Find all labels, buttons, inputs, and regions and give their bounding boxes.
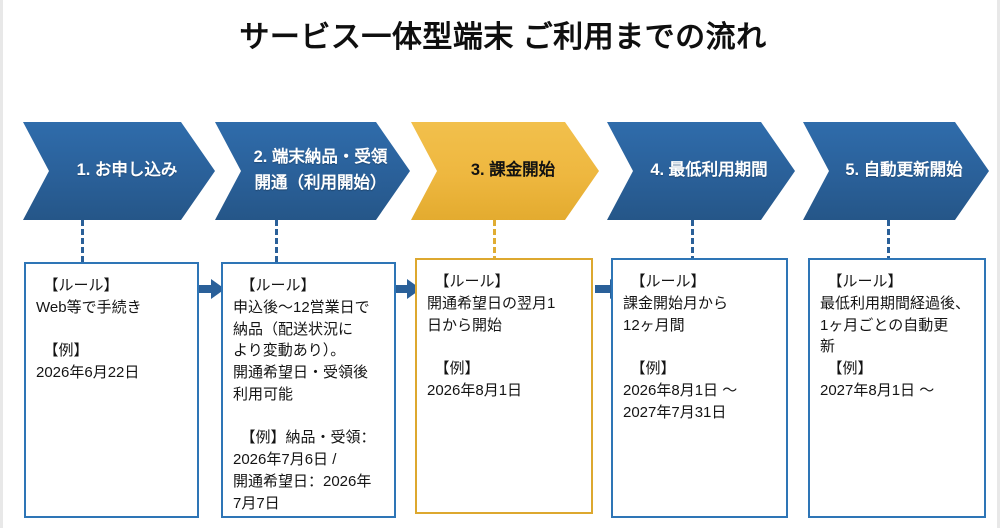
slide-canvas: サービス一体型端末 ご利用までの流れ 1. お申し込み 2. 端末納品・受領 開… <box>0 0 1000 528</box>
connector-2 <box>275 220 278 262</box>
detail-box-1[interactable]: 【ルール】 Web等で手続き 【例】 2026年6月22日 <box>24 262 199 518</box>
detail-box-5-text: 【ルール】 最低利用期間経過後、 1ヶ月ごとの自動更 新 【例】 2027年8月… <box>820 271 976 402</box>
process-flow-row: 1. お申し込み 2. 端末納品・受領 開通（利用開始） 3. 課金開始 <box>3 122 1000 220</box>
detail-box-3-text: 【ルール】 開通希望日の翌月1 日から開始 【例】 2026年8月1日 <box>427 271 583 402</box>
process-step-5-label: 5. 自動更新開始 <box>845 158 962 184</box>
process-step-1-label: 1. お申し込み <box>77 158 178 184</box>
detail-box-1-text: 【ルール】 Web等で手続き 【例】 2026年6月22日 <box>36 275 189 384</box>
page-title: サービス一体型端末 ご利用までの流れ <box>3 12 1000 56</box>
process-step-4[interactable]: 4. 最低利用期間 <box>607 122 795 220</box>
connector-4 <box>691 220 694 262</box>
process-step-2[interactable]: 2. 端末納品・受領 開通（利用開始） <box>215 122 410 220</box>
process-step-2-label: 2. 端末納品・受領 開通（利用開始） <box>254 145 388 196</box>
detail-box-2-text: 【ルール】 申込後〜12営業日で 納品（配送状況に より変動あり）。 開通希望日… <box>233 275 386 514</box>
connector-3 <box>493 220 496 262</box>
detail-box-4[interactable]: 【ルール】 課金開始月から 12ヶ月間 【例】 2026年8月1日 〜 2027… <box>611 258 788 518</box>
process-step-5[interactable]: 5. 自動更新開始 <box>803 122 989 220</box>
detail-box-2[interactable]: 【ルール】 申込後〜12営業日で 納品（配送状況に より変動あり）。 開通希望日… <box>221 262 396 518</box>
process-step-3[interactable]: 3. 課金開始 <box>411 122 599 220</box>
connector-5 <box>887 220 890 262</box>
detail-box-5[interactable]: 【ルール】 最低利用期間経過後、 1ヶ月ごとの自動更 新 【例】 2027年8月… <box>808 258 986 518</box>
detail-box-3[interactable]: 【ルール】 開通希望日の翌月1 日から開始 【例】 2026年8月1日 <box>415 258 593 514</box>
detail-box-4-text: 【ルール】 課金開始月から 12ヶ月間 【例】 2026年8月1日 〜 2027… <box>623 271 778 423</box>
process-step-4-label: 4. 最低利用期間 <box>650 158 767 184</box>
process-step-3-label: 3. 課金開始 <box>471 158 555 184</box>
connector-1 <box>81 220 84 262</box>
process-step-1[interactable]: 1. お申し込み <box>23 122 215 220</box>
